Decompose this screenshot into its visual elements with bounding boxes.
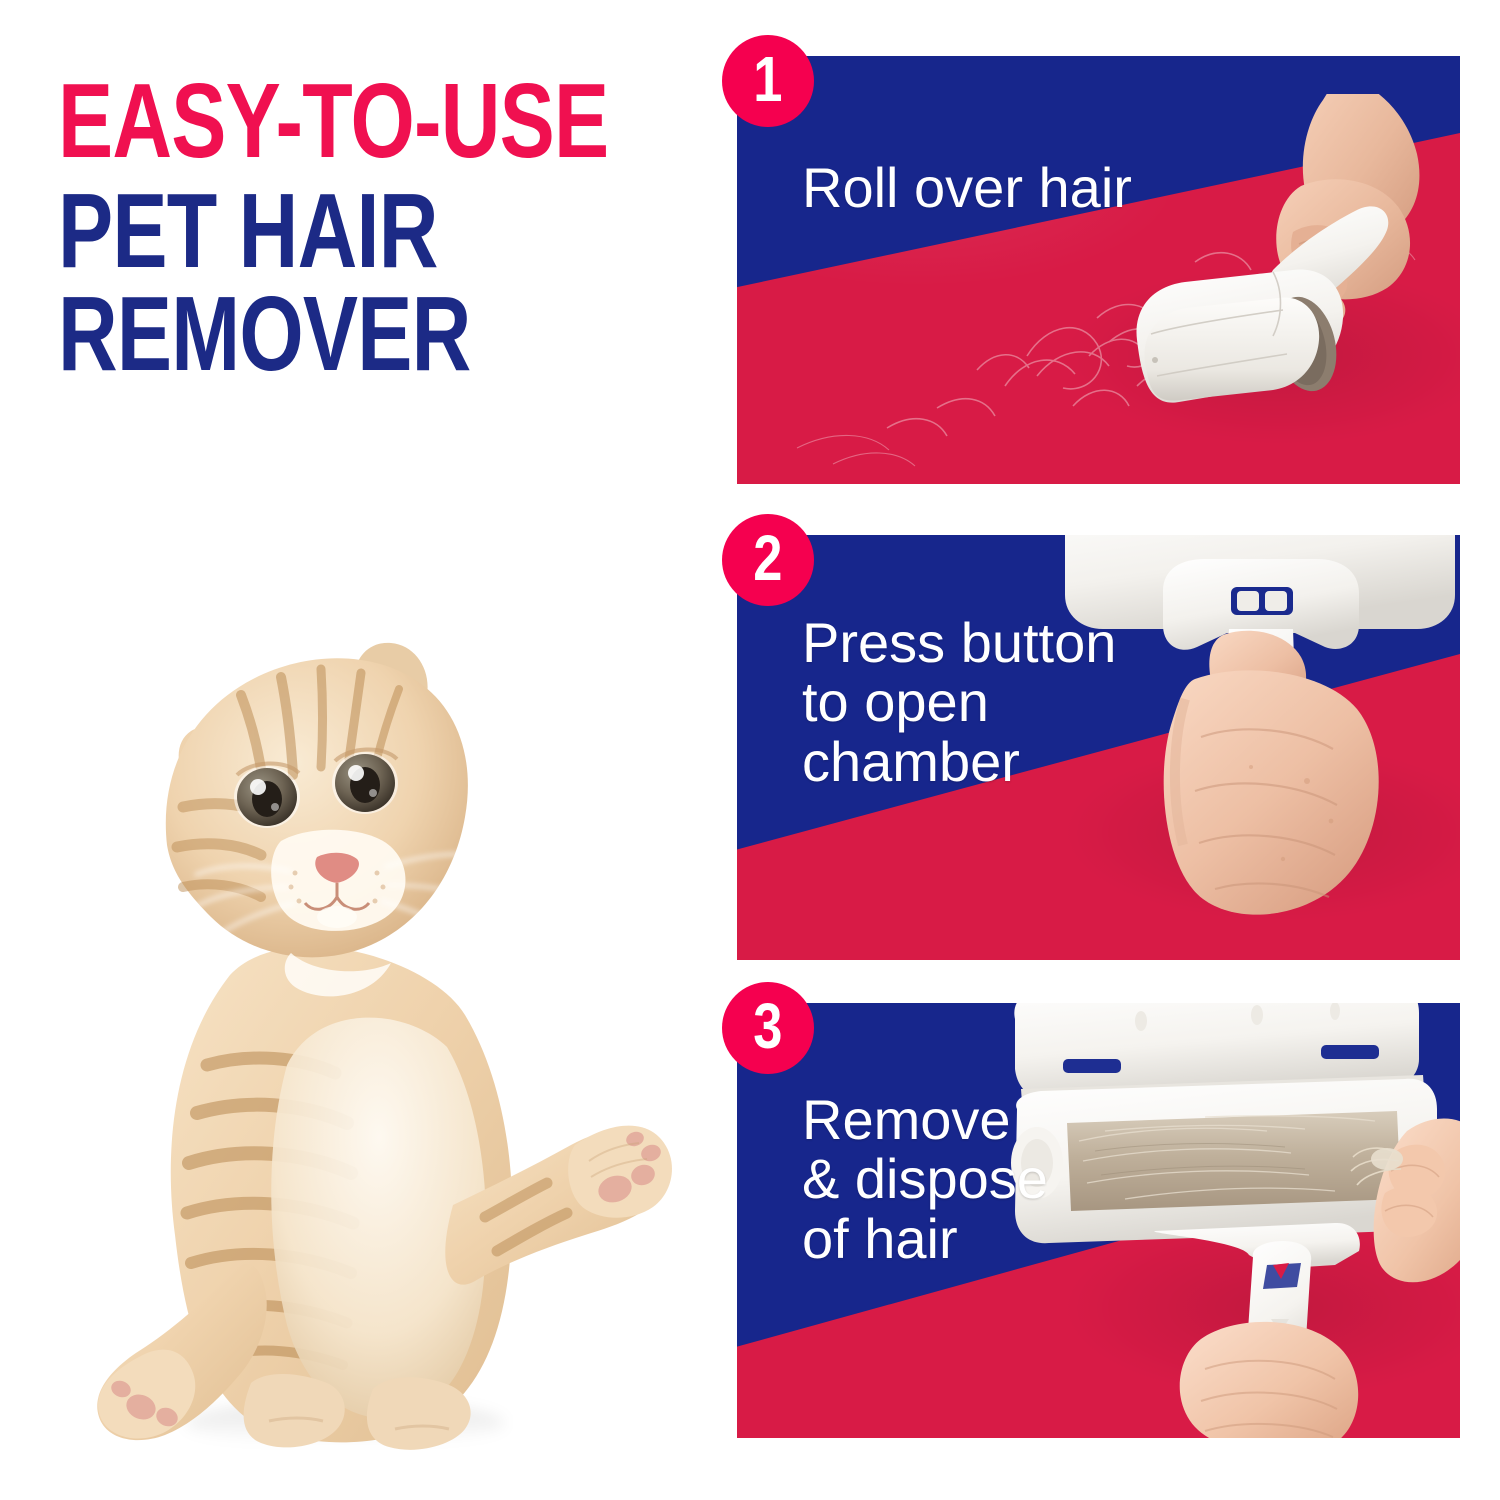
infographic-canvas: EASY-TO-USE PET HAIR REMOVER [0, 0, 1500, 1500]
fabric-backdrop-1 [737, 56, 1460, 484]
step-badge-1: 1 [722, 35, 814, 127]
page-title: EASY-TO-USE PET HAIR REMOVER [58, 72, 718, 385]
step-badge-2-number: 2 [753, 526, 782, 594]
step-badge-3: 3 [722, 982, 814, 1074]
headline-line-2: PET HAIR [58, 182, 573, 282]
loose-pet-hair-1 [737, 56, 1460, 484]
step-caption-2: Press button to open chamber [802, 613, 1116, 791]
step-caption-1: Roll over hair [802, 158, 1132, 217]
headline-line-1: EASY-TO-USE [58, 72, 573, 172]
step-caption-3: Remove & dispose of hair [802, 1090, 1048, 1268]
step-card-1-background [737, 56, 1460, 484]
cat-illustration [55, 545, 675, 1455]
headline-line-3: REMOVER [58, 285, 573, 385]
step-card-1 [737, 56, 1460, 484]
step-badge-2: 2 [722, 514, 814, 606]
step-badge-3-number: 3 [753, 994, 782, 1062]
hero-cat-photo [55, 545, 675, 1455]
step-badge-1-number: 1 [753, 47, 782, 115]
